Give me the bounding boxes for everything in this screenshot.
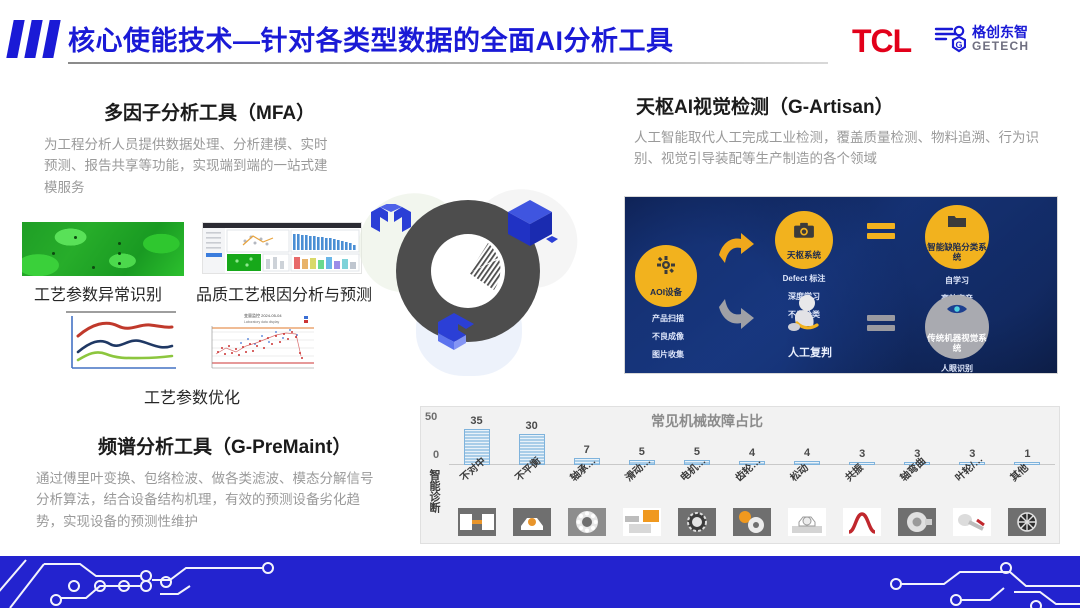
premaint-section-body: 通过傅里叶变换、包络检波、做各类滤波、模态分解信号分析算法，结合设备结构机理，有… <box>36 468 386 532</box>
diagram-node-tianshu: 天枢系统 <box>775 211 833 269</box>
scatter-chart-icon: 变量监控 2024-05-04 Laboratory data display <box>196 308 324 376</box>
diagram-node-smart-defect-label: 智能缺陷分类系统 <box>926 242 988 262</box>
diagram-node-manual-label: 人工复判 <box>765 345 855 362</box>
chart-x-axis-group-label: 智能诊断 <box>423 469 439 513</box>
eye-icon <box>946 302 968 316</box>
person-inspector-icon <box>781 293 829 341</box>
thumbnail-process-anomaly-heatmap <box>22 222 184 276</box>
chart-icon-bearing-icon <box>567 507 607 537</box>
chart-bar-value: 4 <box>789 447 825 459</box>
slide-root: 核心使能技术—针对各类型数据的全面AI分析工具 TCL G 格创东智 GETEC… <box>0 0 1080 608</box>
artisan-diagram-image: AOI设备 产品扫描 不良成像 图片收集 天枢系统 Defect 标注 深度学习… <box>624 196 1058 374</box>
diagram-node-aoi: AOI设备 <box>635 245 697 307</box>
header-divider <box>68 62 828 64</box>
chart-icon-gear-icon <box>732 507 772 537</box>
premaint-cube-icon <box>428 304 484 354</box>
diagram-node-traditional-label: 传统机器视觉系统 <box>926 333 988 353</box>
arrow-down-right-icon <box>717 297 755 331</box>
premaint-section-title: 频谱分析工具（G-PreMaint） <box>98 432 351 459</box>
center-platform-graphic <box>352 176 584 396</box>
chart-icon-shaft-bend-icon <box>897 507 937 537</box>
thumbnail-caption-optimization: 工艺参数优化 <box>144 384 240 408</box>
aoi-point-2: 不良成像 <box>639 331 697 343</box>
svg-text:变量监控 2024-05-04: 变量监控 2024-05-04 <box>244 312 282 318</box>
chart-bar-value: 3 <box>844 448 880 460</box>
tcl-logo: TCL <box>852 23 911 60</box>
folder-icon <box>947 213 967 228</box>
diagram-node-aoi-label: AOI设备 <box>635 288 697 298</box>
artisan-cube-icon <box>502 196 562 254</box>
mfa-section-title: 多因子分析工具（MFA） <box>104 98 315 125</box>
dashboard-mock-icon <box>203 223 361 273</box>
thumbnail-caption-anomaly: 工艺参数异常识别 <box>34 281 162 305</box>
slide-header: 核心使能技术—针对各类型数据的全面AI分析工具 TCL G 格创东智 GETEC… <box>0 0 1080 72</box>
fault-distribution-chart: 50 0 常见机械故障占比 3530755443331 智能诊断 不对中不平衡轴… <box>420 406 1060 544</box>
equals-sign-gray-icon <box>867 315 895 332</box>
y-axis-min-label: 0 <box>433 449 439 461</box>
chart-icon-looseness-icon <box>787 507 827 537</box>
thumbnail-quality-root-cause-dashboard <box>202 222 362 274</box>
chart-icon-motor-icon <box>677 507 717 537</box>
thumbnail-caption-root-cause: 品质工艺根因分析与预测 <box>196 281 372 305</box>
svg-text:Laboratory data display: Laboratory data display <box>244 320 280 324</box>
thumbnail-parameter-optimization-curves <box>62 308 182 376</box>
chart-icon-imbalance-icon <box>512 507 552 537</box>
chart-icon-other-icon <box>1007 507 1047 537</box>
mfa-section-body: 为工程分析人员提供数据处理、分析建模、实时预测、报告共享等功能，实现端到端的一站… <box>44 134 334 198</box>
y-axis-max-label: 50 <box>425 411 437 423</box>
chart-icon-impeller-icon <box>952 507 992 537</box>
getech-name-en: GETECH <box>972 39 1029 53</box>
chart-icon-sliding-icon <box>622 507 662 537</box>
equals-sign-yellow-icon <box>867 223 895 240</box>
diagram-node-tianshu-label: 天枢系统 <box>775 251 833 261</box>
aoi-point-3: 图片收集 <box>639 349 697 361</box>
getech-mark-icon: G <box>932 24 966 54</box>
circuit-pattern-icon <box>0 556 1080 608</box>
camera-icon <box>793 221 815 239</box>
diagram-node-traditional-vision: 传统机器视觉系统 <box>925 295 989 359</box>
artisan-section-title: 天枢AI视觉检测（G-Artisan） <box>636 92 894 119</box>
arrow-up-right-icon <box>717 233 755 267</box>
page-title: 核心使能技术—针对各类型数据的全面AI分析工具 <box>68 19 674 58</box>
artisan-section-body: 人工智能取代人工完成工业检测，覆盖质量检测、物料追溯、行为识别、视觉引导装配等生… <box>634 127 1064 170</box>
chart-bar-value: 30 <box>514 420 550 432</box>
aoi-point-1: 产品扫描 <box>639 313 697 325</box>
getech-logo: G 格创东智 GETECH <box>932 22 1052 56</box>
smart-point-1: 自学习 <box>925 275 989 287</box>
thumbnail-signal-scatter-plot: 变量监控 2024-05-04 Laboratory data display <box>196 308 324 376</box>
mfa-cube-icon <box>366 204 416 250</box>
chart-bar-value: 1 <box>1009 448 1045 460</box>
diagram-node-smart-defect: 智能缺陷分类系统 <box>925 205 989 269</box>
slide-footer <box>0 556 1080 608</box>
traditional-point-1: 人眼识别 <box>925 363 989 374</box>
chart-icon-misalignment-icon <box>457 507 497 537</box>
chart-bar-value: 35 <box>459 415 495 427</box>
tianshu-point-1: Defect 标注 <box>773 273 835 285</box>
svg-text:G: G <box>956 40 963 50</box>
chart-icon-resonance-icon <box>842 507 882 537</box>
header-accent-bars-icon <box>8 20 64 58</box>
gear-icon <box>656 255 676 275</box>
line-chart-icon <box>62 308 182 376</box>
